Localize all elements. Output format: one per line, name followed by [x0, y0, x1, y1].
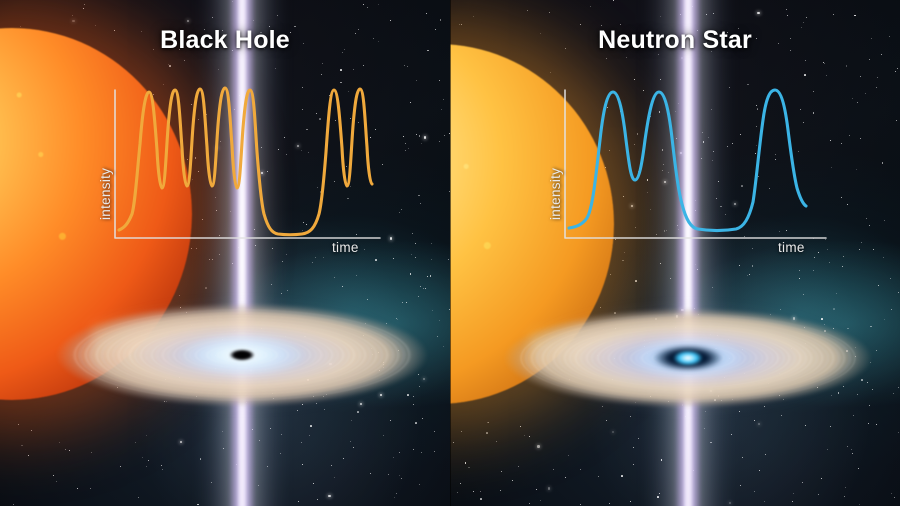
- lightcurve-plot-black-hole: intensity time: [88, 78, 388, 258]
- lightcurve-line-black-hole: [119, 88, 372, 235]
- accretion-disk-left: [52, 285, 432, 425]
- panel-black-hole: Black Hole intensity time: [0, 0, 450, 506]
- event-horizon: [229, 350, 255, 361]
- y-axis-label-left: intensity: [98, 168, 113, 220]
- panel-title-black-hole: Black Hole: [0, 26, 450, 55]
- panel-divider: [450, 0, 451, 506]
- lightcurve-svg-right: [538, 78, 838, 258]
- lightcurve-plot-neutron-star: intensity time: [538, 78, 838, 258]
- accretion-disk-right: [498, 288, 878, 428]
- neutron-star-surface: [673, 350, 703, 366]
- lightcurve-line-neutron-star: [569, 90, 806, 231]
- panel-title-neutron-star: Neutron Star: [450, 26, 900, 55]
- x-axis-label-left: time: [332, 240, 359, 255]
- lightcurve-svg-left: [88, 78, 388, 258]
- y-axis-label-right: intensity: [548, 168, 563, 220]
- illustration-scene: Black Hole intensity time: [0, 0, 900, 506]
- panel-neutron-star: Neutron Star intensity time: [450, 0, 900, 506]
- x-axis-label-right: time: [778, 240, 805, 255]
